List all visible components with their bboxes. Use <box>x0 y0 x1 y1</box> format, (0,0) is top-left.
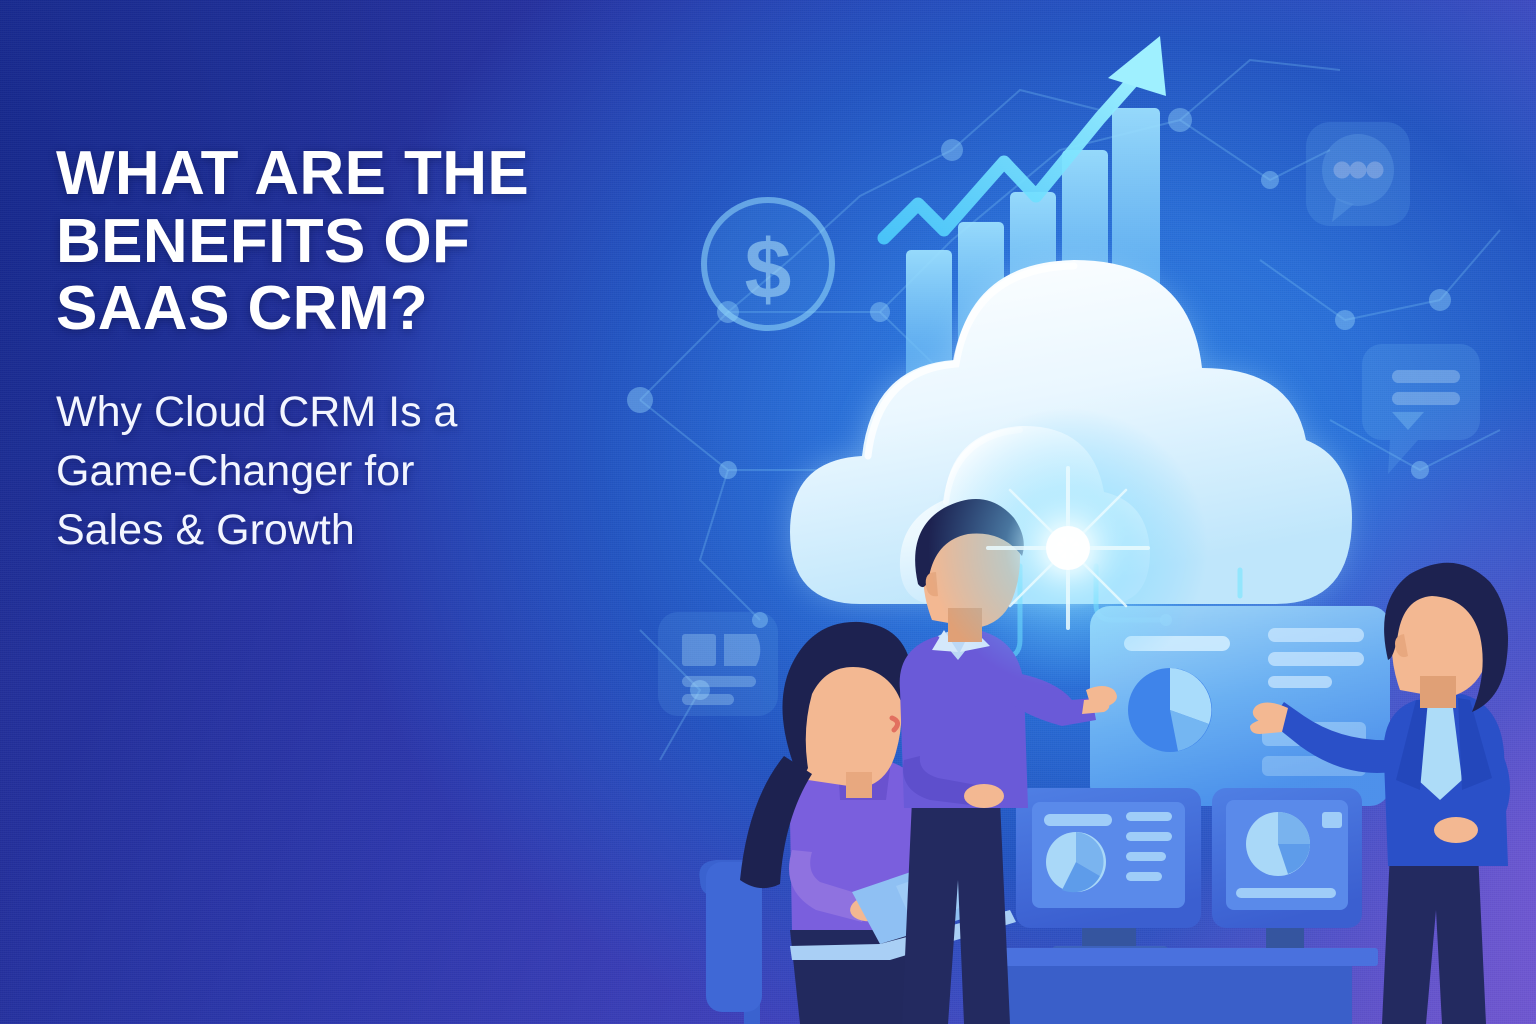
hero-banner: $ <box>0 0 1536 1024</box>
headline-line-2: BENEFITS OF <box>56 207 470 276</box>
page-title: WHAT ARE THE BENEFITS OF SAAS CRM? <box>56 140 656 343</box>
standing-woman-presenting <box>1250 563 1510 1024</box>
subhead-line-1: Why Cloud CRM Is a <box>56 388 457 436</box>
headline-line-3: SAAS CRM? <box>56 274 428 343</box>
subhead-line-3: Sales & Growth <box>56 506 355 554</box>
subhead-line-2: Game-Changer for <box>56 447 415 495</box>
page-subtitle: Why Cloud CRM Is a Game-Changer for Sale… <box>56 383 656 561</box>
headline-line-1: WHAT ARE THE <box>56 139 529 208</box>
standing-man-pointing <box>900 499 1117 1024</box>
text-content: WHAT ARE THE BENEFITS OF SAAS CRM? Why C… <box>56 140 656 561</box>
